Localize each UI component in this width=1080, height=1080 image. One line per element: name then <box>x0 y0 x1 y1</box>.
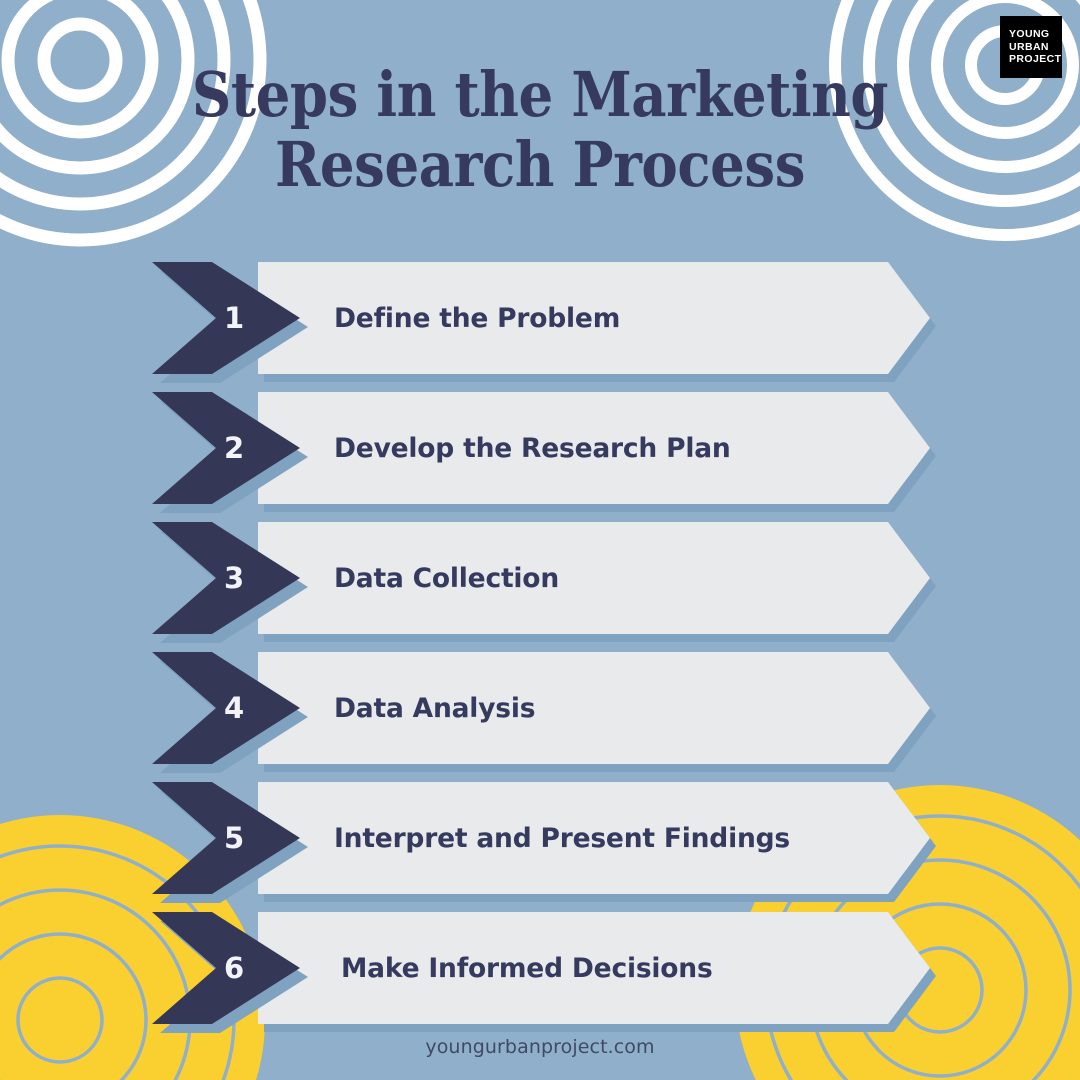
page-title-line-2: Research Process <box>65 130 1015 200</box>
step-row[interactable]: 5Interpret and Present Findings <box>0 782 1080 894</box>
step-number: 1 <box>152 262 300 374</box>
step-row[interactable]: 2Develop the Research Plan <box>0 392 1080 504</box>
step-label: Interpret and Present Findings <box>334 782 790 894</box>
page-title: Steps in the Marketing Research Process <box>65 60 1015 200</box>
logo-line-3: PROJECT <box>1009 53 1062 66</box>
page-title-line-1: Steps in the Marketing <box>65 60 1015 130</box>
step-label: Define the Problem <box>334 262 620 374</box>
step-number: 6 <box>152 912 300 1024</box>
step-label: Data Analysis <box>334 652 535 764</box>
step-row[interactable]: 6Make Informed Decisions <box>0 912 1080 1024</box>
brand-logo[interactable]: YOUNG URBAN PROJECT <box>1000 16 1062 78</box>
website-url[interactable]: youngurbanproject.com <box>0 1036 1080 1058</box>
logo-line-2: URBAN <box>1009 41 1062 54</box>
step-number: 5 <box>152 782 300 894</box>
step-row[interactable]: 1Define the Problem <box>0 262 1080 374</box>
step-label: Develop the Research Plan <box>334 392 731 504</box>
step-number: 3 <box>152 522 300 634</box>
step-label: Data Collection <box>334 522 559 634</box>
infographic-poster: YOUNG URBAN PROJECT Steps in the Marketi… <box>0 0 1080 1080</box>
step-row[interactable]: 3Data Collection <box>0 522 1080 634</box>
process-steps-list: 1Define the Problem2Develop the Research… <box>0 262 1080 1042</box>
step-row[interactable]: 4Data Analysis <box>0 652 1080 764</box>
step-number: 2 <box>152 392 300 504</box>
step-number: 4 <box>152 652 300 764</box>
logo-line-1: YOUNG <box>1009 28 1062 41</box>
step-label: Make Informed Decisions <box>341 912 713 1024</box>
